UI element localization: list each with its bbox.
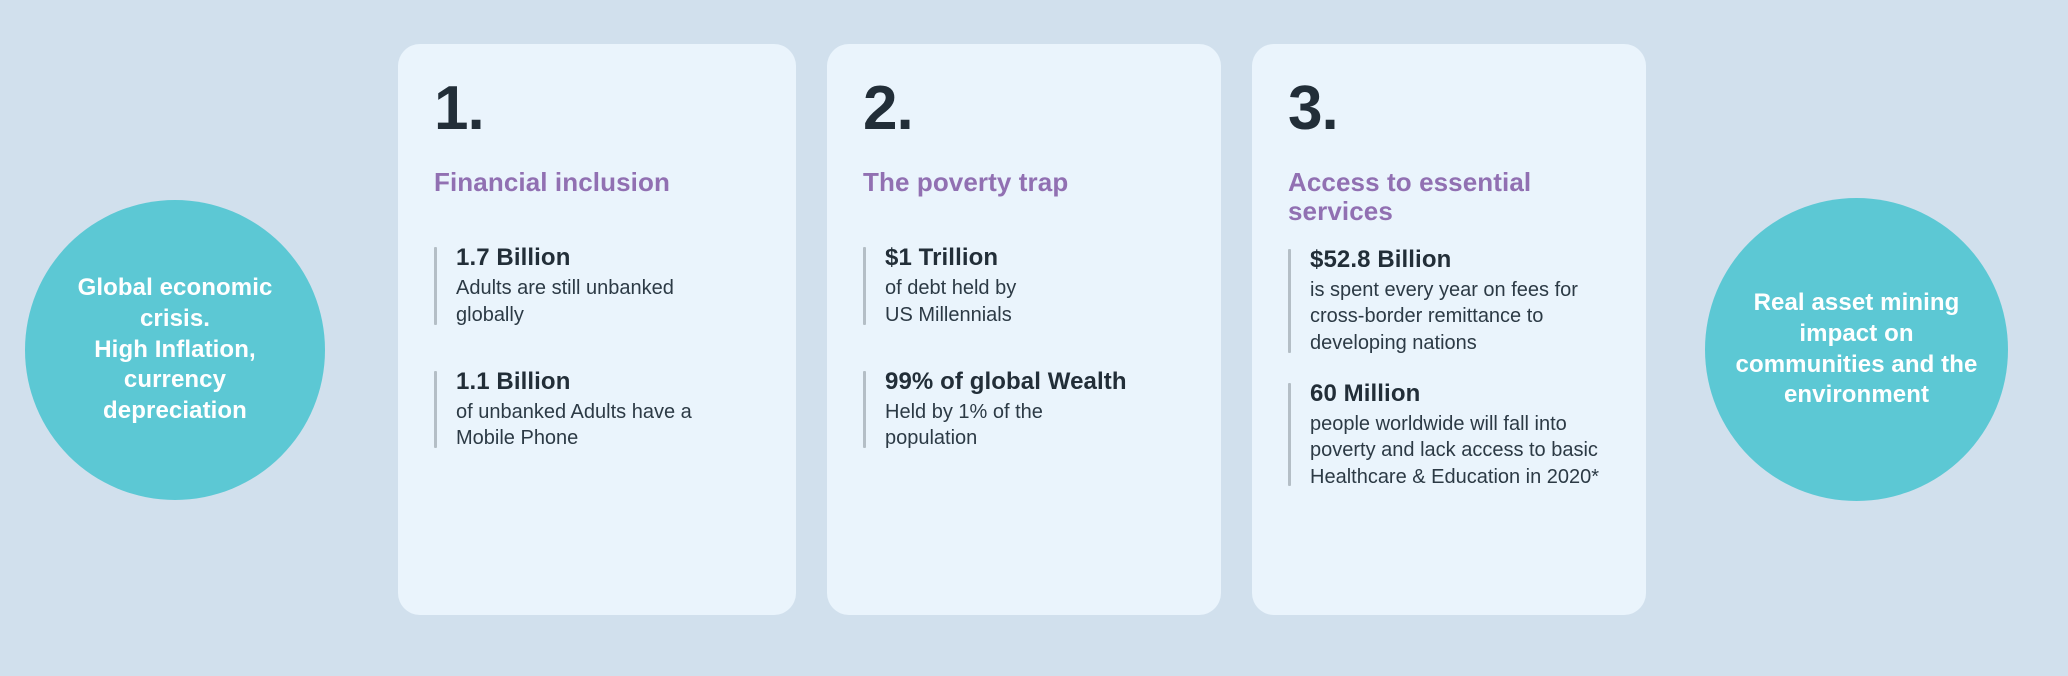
stat-value: 60 Million: [1310, 379, 1610, 409]
stat-item: 99% of global Wealth Held by 1% of the p…: [863, 367, 1185, 452]
stat-accent-bar: [1288, 383, 1291, 487]
card-number: 1.: [434, 78, 760, 140]
card-title: Financial inclusion: [434, 168, 760, 197]
stat-accent-bar: [863, 371, 866, 448]
stat-value: 99% of global Wealth: [885, 367, 1185, 397]
stat-item: 1.1 Billion of unbanked Adults have a Mo…: [434, 367, 760, 452]
problem-card-1: 1. Financial inclusion 1.7 Billion Adult…: [398, 44, 796, 615]
infographic-stage: Global economic crisis. High Inflation, …: [0, 0, 2068, 676]
stat-accent-bar: [434, 371, 437, 448]
problem-card-2: 2. The poverty trap $1 Trillion of debt …: [827, 44, 1221, 615]
stat-description: of unbanked Adults have a Mobile Phone: [456, 399, 760, 452]
stat-description: of debt held by US Millennials: [885, 275, 1185, 328]
stat-value: 1.1 Billion: [456, 367, 760, 397]
stat-value: $52.8 Billion: [1310, 245, 1610, 275]
stat-item: 1.7 Billion Adults are still unbanked gl…: [434, 243, 760, 328]
stat-value: 1.7 Billion: [456, 243, 760, 273]
stat-accent-bar: [1288, 249, 1291, 353]
card-stat-list: $1 Trillion of debt held by US Millennia…: [863, 243, 1185, 451]
stat-accent-bar: [434, 247, 437, 324]
stat-accent-bar: [863, 247, 866, 324]
card-number: 3.: [1288, 78, 1610, 140]
left-context-circle: Global economic crisis. High Inflation, …: [25, 200, 325, 500]
card-stat-list: $52.8 Billion is spent every year on fee…: [1288, 245, 1610, 491]
right-context-circle: Real asset mining impact on communities …: [1705, 198, 2008, 501]
problem-card-3: 3. Access to essential services $52.8 Bi…: [1252, 44, 1646, 615]
right-circle-text: Real asset mining impact on communities …: [1710, 288, 2004, 411]
stat-description: people worldwide will fall into poverty …: [1310, 411, 1610, 491]
stat-item: 60 Million people worldwide will fall in…: [1288, 379, 1610, 491]
card-title: The poverty trap: [863, 168, 1185, 197]
stat-item: $1 Trillion of debt held by US Millennia…: [863, 243, 1185, 328]
card-title: Access to essential services: [1288, 168, 1610, 227]
stat-description: Adults are still unbanked globally: [456, 275, 760, 328]
card-number: 2.: [863, 78, 1185, 140]
stat-description: Held by 1% of the population: [885, 399, 1185, 452]
card-stat-list: 1.7 Billion Adults are still unbanked gl…: [434, 243, 760, 451]
left-circle-text: Global economic crisis. High Inflation, …: [52, 273, 299, 427]
stat-value: $1 Trillion: [885, 243, 1185, 273]
stat-description: is spent every year on fees for cross-bo…: [1310, 277, 1610, 357]
stat-item: $52.8 Billion is spent every year on fee…: [1288, 245, 1610, 357]
